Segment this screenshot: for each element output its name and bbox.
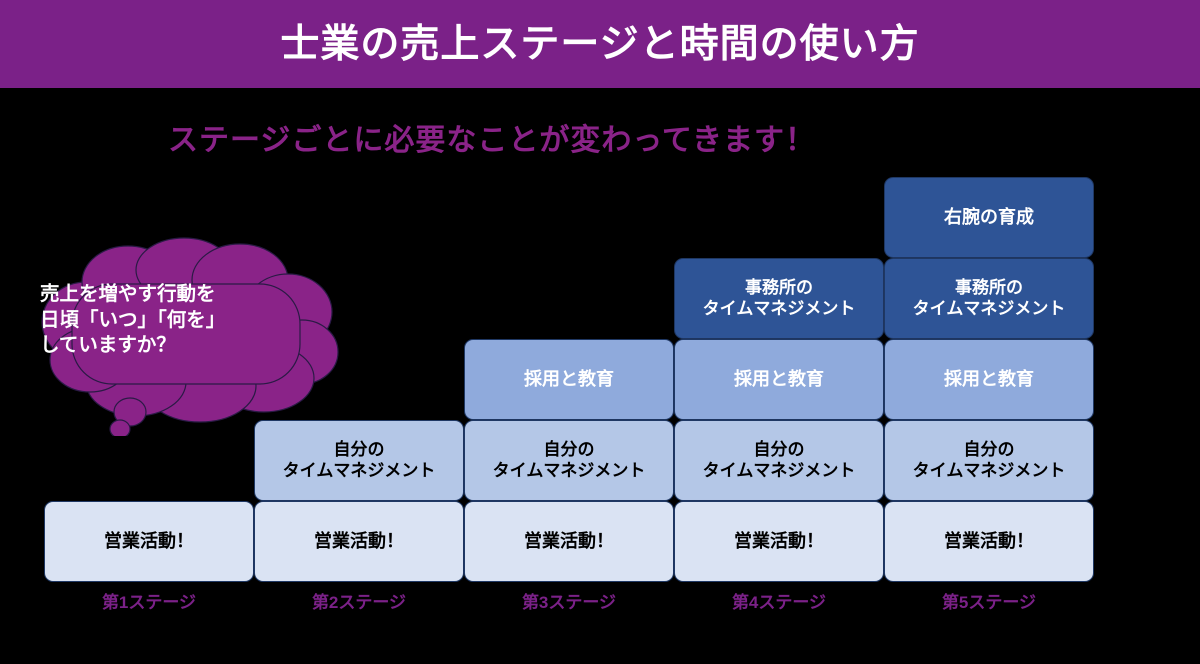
stage-box-3-自分のタイムマネジメント[interactable]: 自分の タイムマネジメント: [464, 420, 674, 501]
stage-column-4: 事務所の タイムマネジメント 採用と教育 自分の タイムマネジメント 営業活動！: [674, 258, 884, 582]
stage-column-5: 右腕の育成 事務所の タイムマネジメント 採用と教育 自分の タイムマネジメント…: [884, 177, 1094, 582]
stage-box-5-事務所のタイムマネジメント[interactable]: 事務所の タイムマネジメント: [884, 258, 1094, 339]
stage-box-5-営業活動[interactable]: 営業活動！: [884, 501, 1094, 582]
stage-label-5: 第5ステージ: [884, 588, 1094, 613]
stage-box-4-事務所のタイムマネジメント[interactable]: 事務所の タイムマネジメント: [674, 258, 884, 339]
stage-label-4: 第4ステージ: [674, 588, 884, 613]
stage-column-1: 営業活動！: [44, 501, 254, 582]
subtitle-text: ステージごとに必要なことが変わってきます！: [168, 126, 816, 156]
stage-box-4-採用と教育[interactable]: 採用と教育: [674, 339, 884, 420]
stage-box-3-採用と教育[interactable]: 採用と教育: [464, 339, 674, 420]
stage-box-2-営業活動[interactable]: 営業活動！: [254, 501, 464, 582]
stage-box-5-右腕の育成[interactable]: 右腕の育成: [884, 177, 1094, 258]
stage-label-3: 第3ステージ: [464, 588, 674, 613]
stage-label-1: 第1ステージ: [44, 588, 254, 613]
stage-column-2: 自分の タイムマネジメント 営業活動！: [254, 420, 464, 582]
stage-box-4-自分のタイムマネジメント[interactable]: 自分の タイムマネジメント: [674, 420, 884, 501]
page-title: 士業の売上ステージと時間の使い方: [280, 25, 919, 64]
stage-box-3-営業活動[interactable]: 営業活動！: [464, 501, 674, 582]
stage-column-3: 採用と教育 自分の タイムマネジメント 営業活動！: [464, 339, 674, 582]
stage-box-1-営業活動[interactable]: 営業活動！: [44, 501, 254, 582]
stage-box-2-自分のタイムマネジメント[interactable]: 自分の タイムマネジメント: [254, 420, 464, 501]
stage-label-2: 第2ステージ: [254, 588, 464, 613]
stage-chart: 営業活動！ 自分の タイムマネジメント 営業活動！ 採用と教育 自分の タイムマ…: [44, 176, 1094, 582]
title-banner: 士業の売上ステージと時間の使い方: [0, 0, 1200, 88]
stage-box-5-自分のタイムマネジメント[interactable]: 自分の タイムマネジメント: [884, 420, 1094, 501]
stage-box-4-営業活動[interactable]: 営業活動！: [674, 501, 884, 582]
stage-box-5-採用と教育[interactable]: 採用と教育: [884, 339, 1094, 420]
